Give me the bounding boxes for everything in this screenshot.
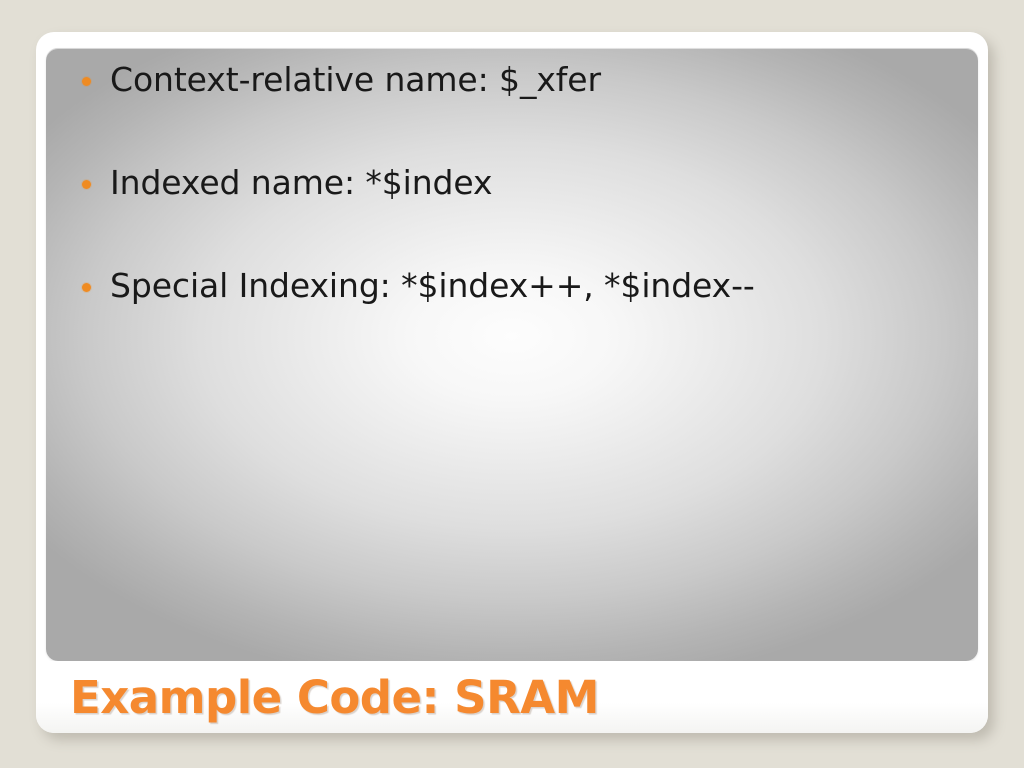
bullet-text: Indexed name: *$index — [110, 164, 492, 202]
list-item: Special Indexing: *$index++, *$index-- — [72, 267, 968, 370]
bullet-text: Special Indexing: *$index++, *$index-- — [110, 267, 755, 305]
slide-title-band: Example Code: SRAM — [36, 661, 988, 733]
list-item: Context-relative name: $_xfer — [72, 61, 968, 164]
bullet-dot-icon — [82, 283, 91, 292]
bullet-dot-icon — [82, 77, 91, 86]
bullet-text: Context-relative name: $_xfer — [110, 61, 601, 99]
bullet-list: Context-relative name: $_xfer Indexed na… — [72, 61, 968, 370]
list-item: Indexed name: *$index — [72, 164, 968, 267]
bullet-dot-icon — [82, 180, 91, 189]
slide-content-panel: Context-relative name: $_xfer Indexed na… — [46, 48, 978, 661]
slide-stage: Context-relative name: $_xfer Indexed na… — [0, 0, 1024, 768]
slide-frame: Context-relative name: $_xfer Indexed na… — [36, 32, 988, 733]
page-title: Example Code: SRAM — [36, 671, 599, 724]
